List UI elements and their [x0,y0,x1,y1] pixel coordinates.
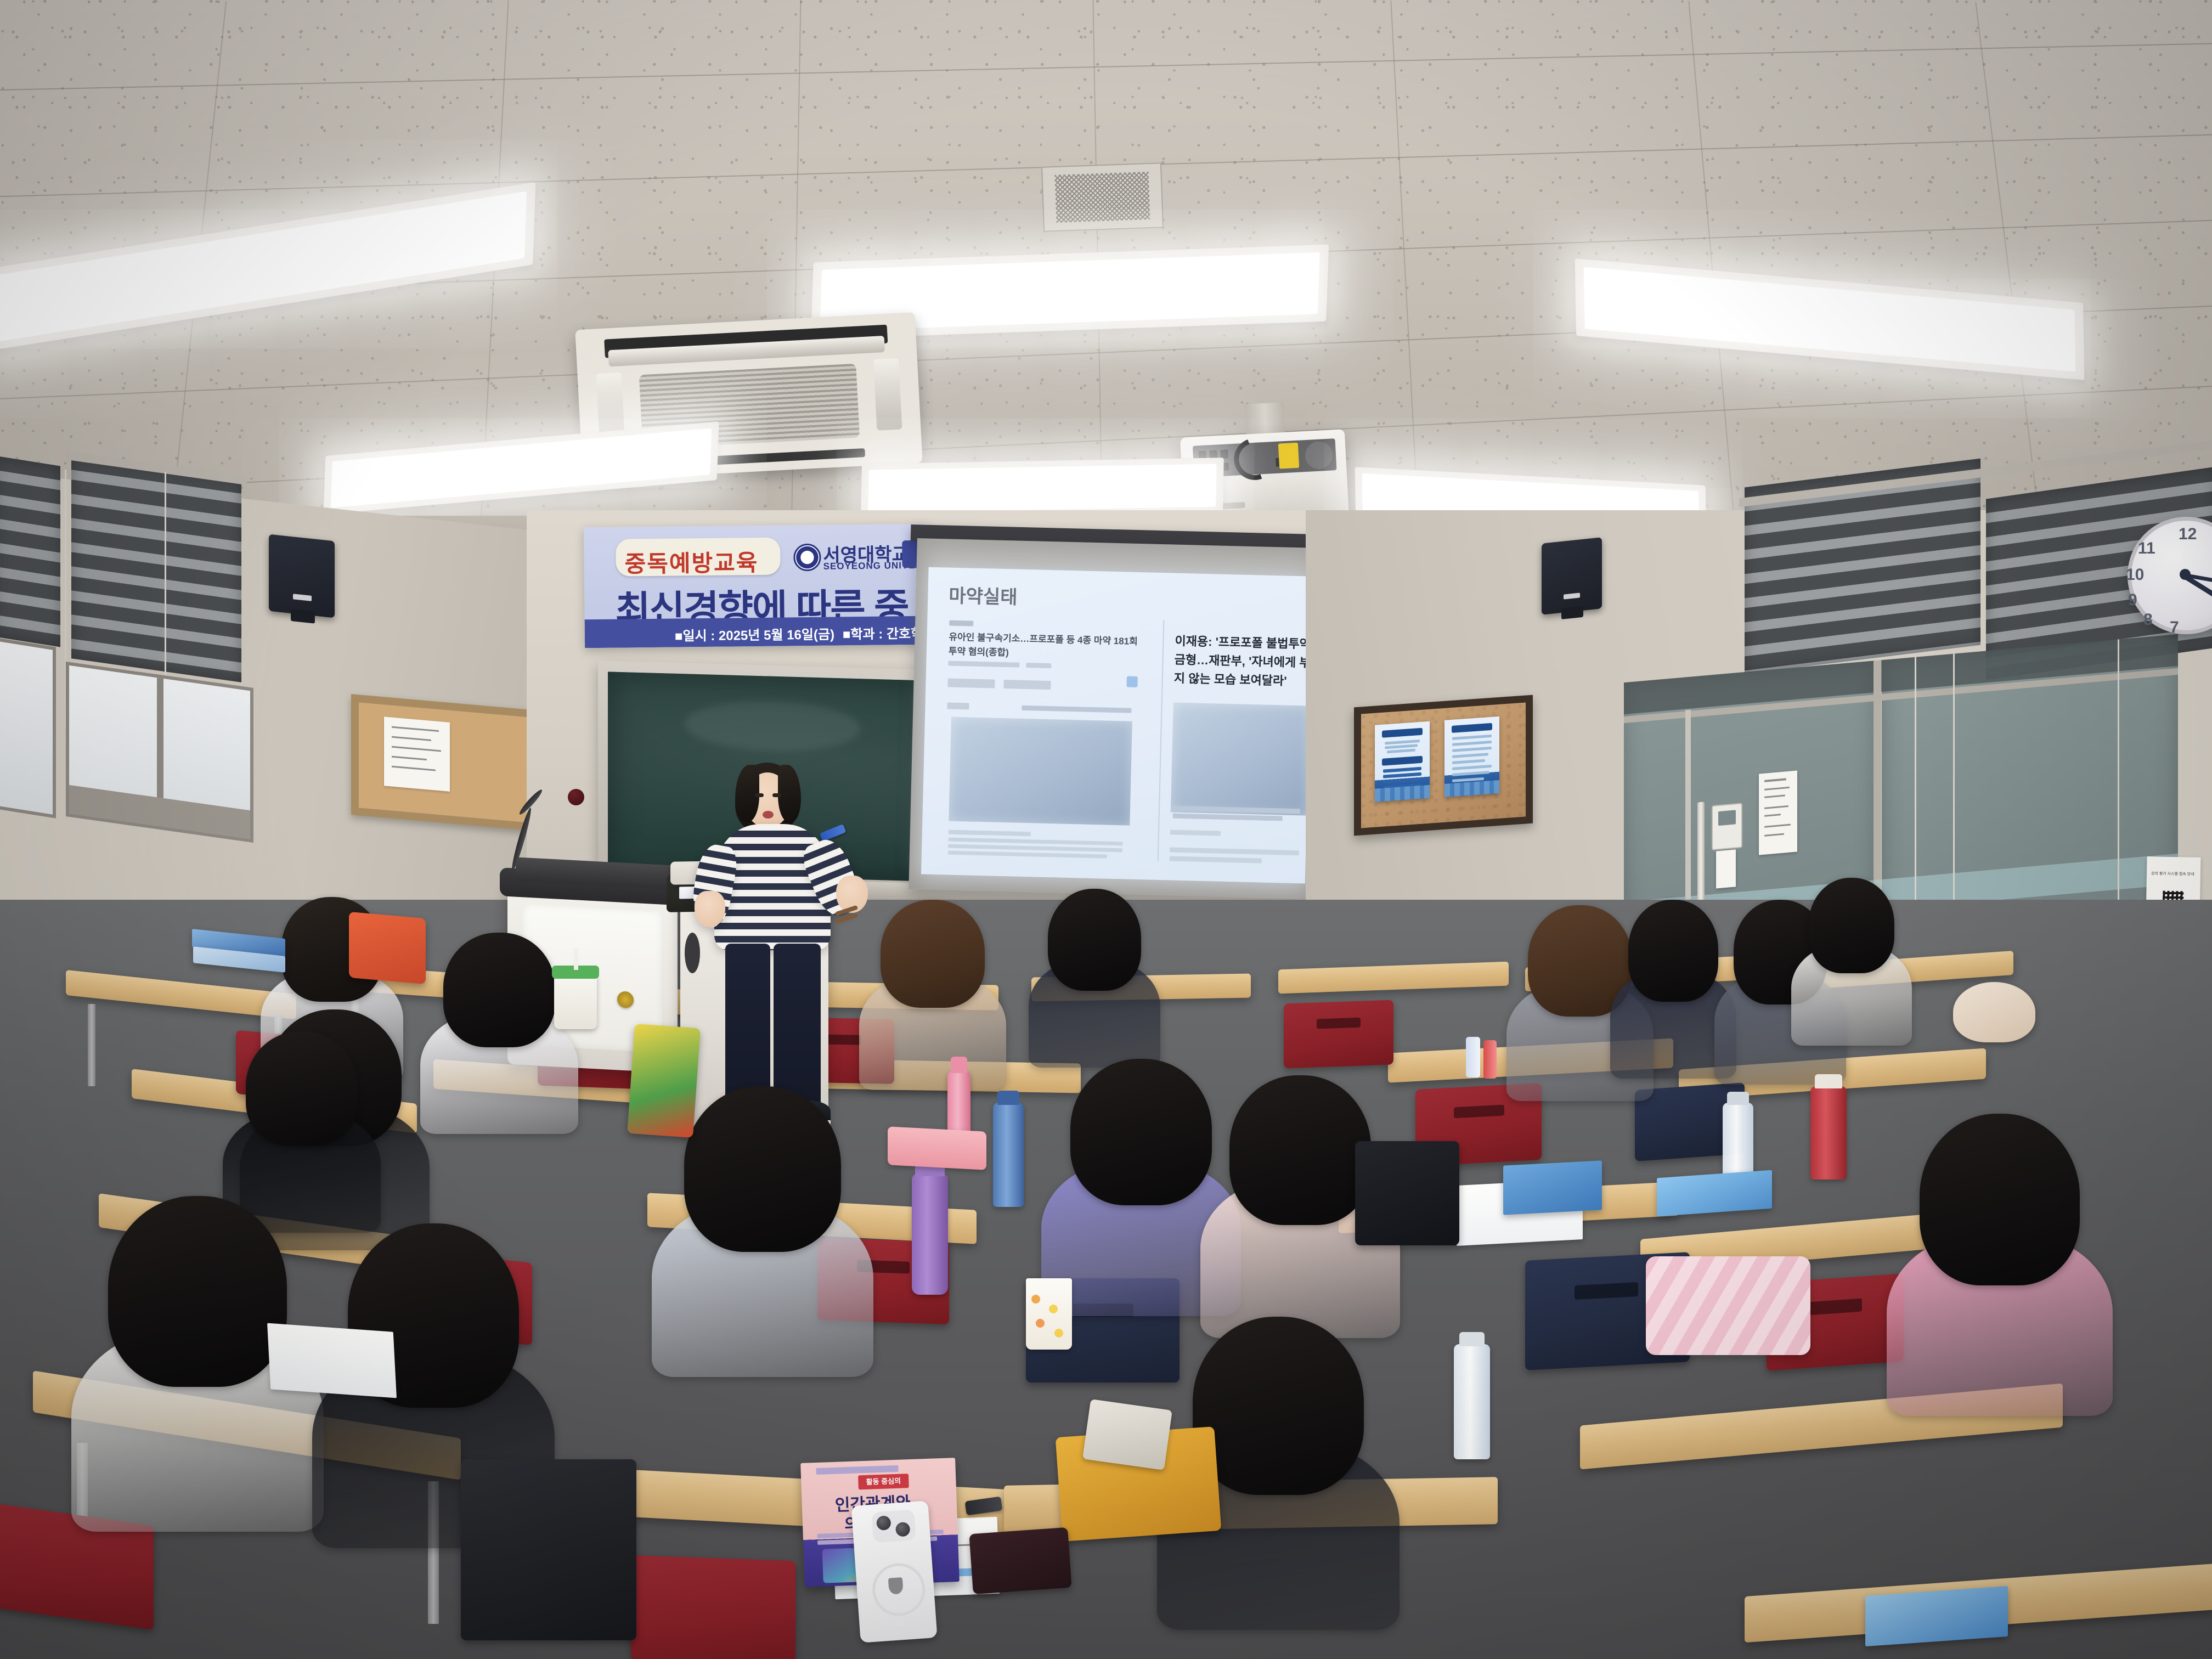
notice-paper [384,716,450,791]
ac-vane [873,358,902,431]
university-emblem-icon [793,544,821,572]
classroom-photo: 중독예방교육 서영대학교 SEOYEONG UNIVERSITY 최신경향에 따… [0,0,2212,1659]
student-hair [1070,1059,1212,1205]
presenter [675,763,850,1136]
training-manikin [1953,982,2035,1042]
snack-bag[interactable] [1082,1399,1172,1470]
chair[interactable] [1284,1000,1393,1069]
microphone-head [568,789,584,805]
left-article-headline-2: 투약 혐의(종합) [949,644,1009,659]
student [856,900,1009,1086]
worksheet[interactable] [267,1323,397,1398]
framed-notice-board [351,694,538,831]
banner-footer-band: ■일시 : 2025년 5월 16일(금) ■학과 : 간호학과 [585,616,931,648]
news-photo-caption [1022,706,1131,713]
tumbler[interactable] [1810,1086,1847,1180]
projector-lens-slot [1220,502,1245,509]
student-hair [1920,1114,2080,1285]
projector-cable [1227,431,1283,487]
window[interactable] [66,662,253,843]
article-meta [1026,663,1051,668]
clock-numeral: 9 [2128,591,2137,610]
article-reaction [947,678,995,688]
cork-surface [1361,703,1526,828]
desk-leg [88,1004,95,1086]
student [1788,878,1915,1042]
event-banner: 중독예방교육 서영대학교 SEOYEONG UNIVERSITY 최신경향에 따… [584,524,930,648]
vent-mesh [1055,172,1150,223]
banner-badge: 중독예방교육 [616,538,781,577]
projection-screen: 마약실태 유아인 불구속기소…프로포폴 등 4종 마약 181회 투약 혐의(종… [909,538,1323,899]
lectern-emblem-icon [617,991,634,1008]
ceiling-vent [1041,162,1164,232]
window-blind[interactable] [0,455,60,647]
smartphone[interactable] [851,1500,937,1643]
presenter-hair [778,765,801,822]
notebook[interactable] [1503,1160,1602,1215]
glue-stick[interactable] [1483,1040,1497,1079]
door-handle[interactable] [1697,802,1705,901]
article-kicker [949,620,973,627]
student [1026,889,1163,1064]
blanket[interactable] [1646,1256,1810,1355]
glue-stick[interactable] [1466,1037,1480,1077]
paper-cup[interactable] [1026,1278,1072,1350]
presenter-pants [725,944,770,1108]
poster-heading [1452,723,1492,733]
student-hair [108,1196,287,1387]
article-meta [948,661,1019,668]
student-hair [1229,1075,1371,1225]
presenter-eye [755,793,764,797]
straw [574,948,578,970]
student-hair [1809,878,1894,973]
bulletin-poster-right [1444,716,1499,797]
news-logo [947,702,969,709]
slide-title: 마약실태 [949,580,1018,609]
drink-cup[interactable] [554,974,597,1029]
right-article-headline-3: 지 않는 모습 보여달라' [1173,669,1286,689]
banner-badge-text: 중독예방교육 [624,544,758,579]
slide-divider [1158,620,1165,861]
window-blind[interactable] [71,455,241,682]
clock-numeral: 11 [2138,539,2155,558]
bulletin-board [1354,695,1533,836]
wall-speaker [1542,537,1602,615]
right-article-headline-1: 이재용: '프로포폴 불법투약' 벌 [1175,631,1328,653]
news-photo [949,717,1132,826]
student-hair [1193,1317,1364,1495]
clock-center-pin [2180,569,2191,580]
clock-numeral: 10 [2126,566,2144,584]
presenter-pants [774,944,821,1108]
textbook-badge: 활동 중심의 [858,1474,909,1489]
student-hair [443,933,555,1047]
presentation-slide: 마약실태 유아인 불구속기소…프로포폴 등 4종 마약 181회 투약 혐의(종… [921,567,1312,884]
phone-case[interactable] [969,1527,1071,1594]
student [417,933,582,1130]
door-notice [1759,771,1797,855]
camera-module [871,1509,916,1543]
poster-heading [1382,728,1423,738]
presenter-eye [772,793,781,797]
water-bottle[interactable] [993,1103,1024,1207]
share-icon [1126,676,1137,687]
tote-bag[interactable] [1355,1141,1459,1245]
poster-heading [1382,756,1423,766]
chair[interactable] [631,1555,795,1659]
bulletin-poster-left [1375,721,1430,802]
presenter-mouth [763,811,774,819]
notebook[interactable] [1657,1170,1772,1217]
bag[interactable] [627,1024,701,1138]
door-notice [1716,849,1736,888]
banner-date: ■일시 : 2025년 5월 16일(금) [675,624,834,645]
qr-notice-top-text: 강의 평가 시스템 접속 안내 [2151,871,2194,877]
clock-numeral: 8 [2143,611,2153,629]
news-photo [1171,703,1311,816]
access-control-panel[interactable] [1712,803,1742,850]
student-hair [1628,900,1718,1002]
student [1882,1114,2118,1410]
water-bottle[interactable] [1454,1344,1490,1459]
window[interactable] [0,636,56,818]
presenter-hand [695,891,725,927]
student-hair [1048,889,1141,991]
right-article-date [1170,830,1221,836]
tumbler[interactable] [912,1174,948,1295]
bag[interactable] [349,912,426,984]
notebook[interactable] [1865,1586,2008,1646]
access-panel-screen [1718,810,1736,826]
wall-speaker [269,534,335,618]
student-hair [246,1031,358,1146]
clock-numeral: 7 [2170,618,2179,637]
pencil-case[interactable] [888,1126,986,1170]
student-hair [684,1086,841,1252]
article-reaction [1003,680,1051,690]
student-hair [881,900,985,1008]
projector-cable-tag [1278,443,1299,469]
clock-numeral: 12 [2179,525,2197,544]
backpack[interactable] [461,1459,636,1640]
